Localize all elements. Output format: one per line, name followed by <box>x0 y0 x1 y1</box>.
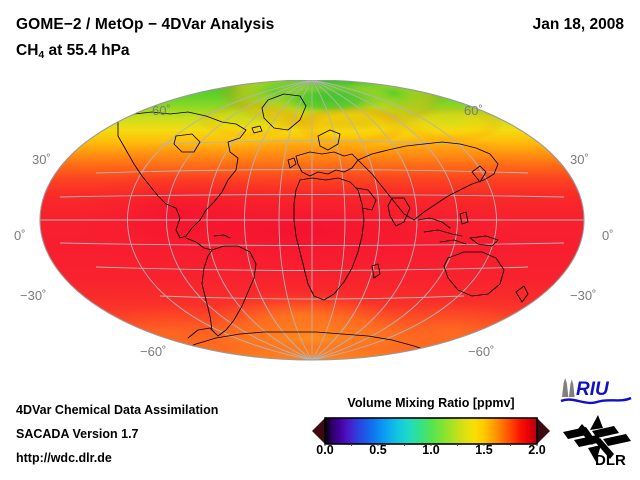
colorbar-left-cap <box>312 418 325 444</box>
colorbar-tick-0: 0.0 <box>308 443 342 457</box>
colorbar-svg <box>312 416 550 446</box>
analysis-date: Jan 18, 2008 <box>533 16 624 34</box>
lat-label-right-neg60: −60˚ <box>468 344 494 359</box>
lat-label-right-30: 30˚ <box>570 152 589 167</box>
dlr-logo: DLR <box>562 414 634 468</box>
species-level-subtitle: CH4 at 55.4 hPa <box>16 42 130 60</box>
footer-line-url[interactable]: http://wdc.dlr.de <box>16 451 112 465</box>
riu-tower-icon <box>562 378 575 397</box>
world-map-mollweide: 60˚ 30˚ 0˚ −30˚ −60˚ 60˚ 30˚ 0˚ −30˚ −60… <box>0 80 640 380</box>
footer-line-assimilation: 4DVar Chemical Data Assimilation <box>16 403 218 417</box>
lat-label-left-60: 60˚ <box>152 103 171 118</box>
lat-label-left-neg60: −60˚ <box>140 344 166 359</box>
lat-label-left-neg30: −30˚ <box>20 288 46 303</box>
lat-label-right-60: 60˚ <box>464 103 483 118</box>
colorbar: Volume Mixing Ratio [ppmv] <box>312 396 552 474</box>
page-title: GOME−2 / MetOp − 4DVar Analysis <box>16 16 274 34</box>
colorbar-right-cap <box>537 418 550 444</box>
riu-wordmark: RIU <box>576 379 610 400</box>
colorbar-gradient <box>325 418 537 444</box>
colorbar-tick-4: 2.0 <box>520 443 554 457</box>
lat-label-left-0: 0˚ <box>14 228 26 243</box>
riu-logo: RIU <box>559 375 633 407</box>
colorbar-title: Volume Mixing Ratio [ppmv] <box>312 396 550 410</box>
map-svg <box>0 80 640 380</box>
lat-label-right-0: 0˚ <box>602 228 614 243</box>
species-subscript: 4 <box>38 49 44 61</box>
colorbar-tick-2: 1.0 <box>414 443 448 457</box>
lat-label-left-30: 30˚ <box>32 152 51 167</box>
pressure-level-text: at 55.4 hPa <box>44 42 129 59</box>
figure-canvas: GOME−2 / MetOp − 4DVar Analysis CH4 at 5… <box>0 0 640 480</box>
footer-line-version: SACADA Version 1.7 <box>16 427 139 441</box>
colorbar-tick-1: 0.5 <box>361 443 395 457</box>
species-formula: CH <box>16 42 38 59</box>
lat-label-right-neg30: −30˚ <box>570 288 596 303</box>
dlr-wordmark: DLR <box>595 452 626 468</box>
colorbar-tick-3: 1.5 <box>467 443 501 457</box>
